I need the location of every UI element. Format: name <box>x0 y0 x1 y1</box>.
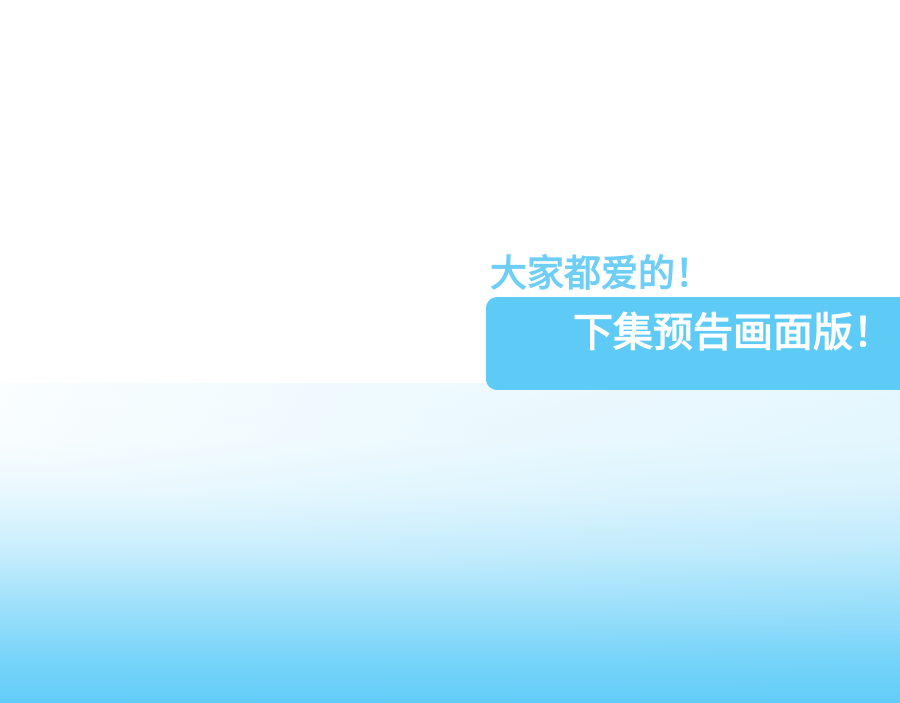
caption-line-1: 大家都爱的！ <box>490 255 712 292</box>
background-gradient-wash <box>0 383 900 703</box>
caption-line-2: 下集预告画面版！ <box>486 313 893 353</box>
comic-panel: 大家都爱的！ 下集预告画面版！ <box>0 0 900 703</box>
